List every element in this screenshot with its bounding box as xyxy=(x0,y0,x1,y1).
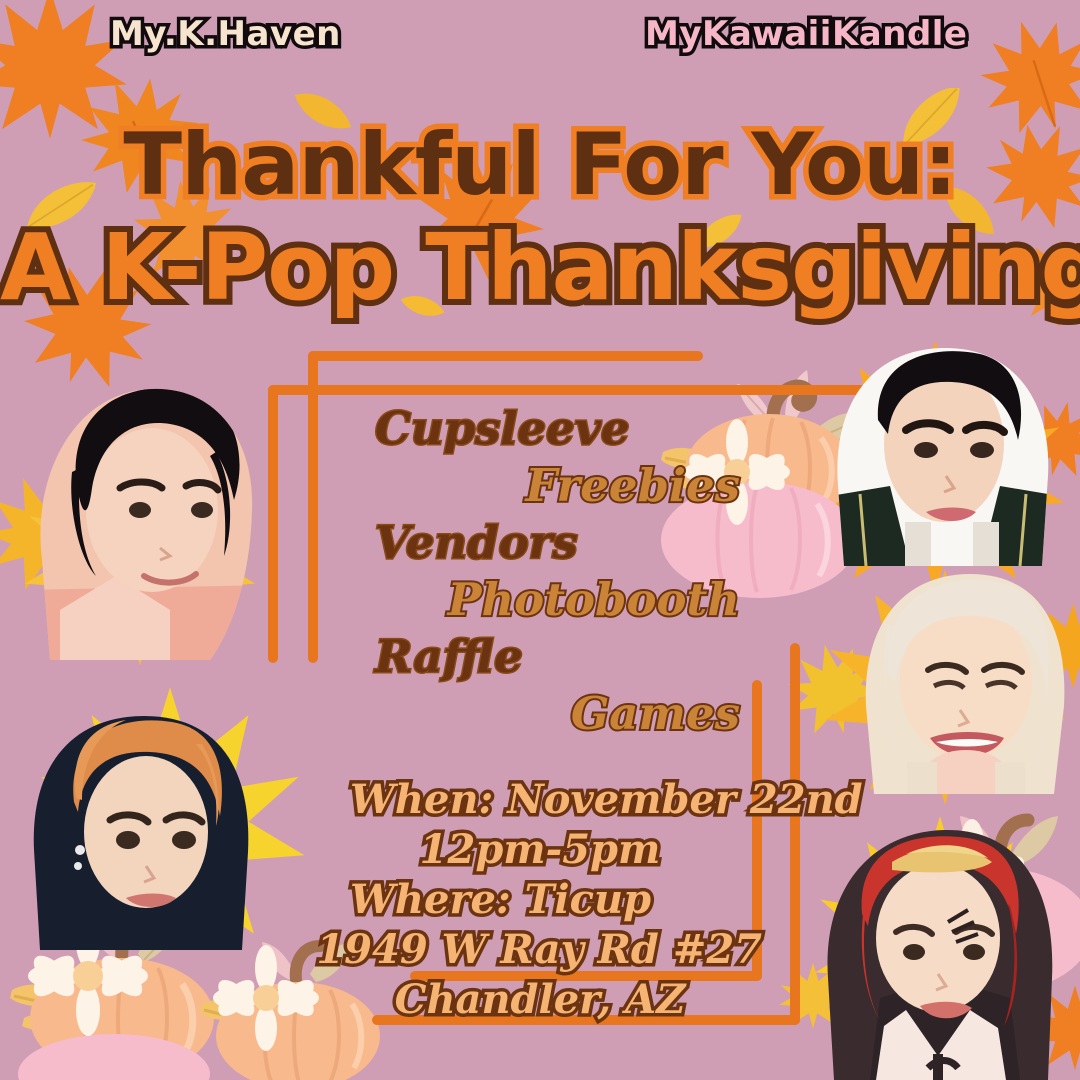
detail-where-venue: Where: Ticup xyxy=(300,875,780,925)
feature-item-games: Games xyxy=(330,685,750,742)
feature-item-raffle: Raffle xyxy=(330,628,750,685)
detail-when-time: 12pm-5pm xyxy=(300,825,780,875)
feature-list: Cupsleeve Freebies Vendors Photobooth Ra… xyxy=(330,400,750,742)
feature-item-photobooth: Photobooth xyxy=(330,571,750,628)
kpop-idol-photo-mid-right xyxy=(858,566,1074,794)
page-title-line-2: A K-Pop Thanksgiving xyxy=(0,216,1080,320)
feature-item-vendors: Vendors xyxy=(330,514,750,571)
brand-handle-left: My.K.Haven xyxy=(110,14,341,54)
detail-where-city: Chandler, AZ xyxy=(300,975,780,1025)
kpop-idol-photo-top-right xyxy=(830,336,1060,566)
detail-when-date: When: November 22nd xyxy=(300,775,780,825)
frame-line-outer-right xyxy=(790,643,800,1025)
kpop-idol-photo-top-left xyxy=(20,360,270,660)
frame-line-inner-top xyxy=(308,351,703,361)
kpop-idol-photo-bottom-left xyxy=(30,700,262,950)
page-title-line-1: Thankful For You: xyxy=(0,116,1080,214)
detail-where-street: 1949 W Ray Rd #27 xyxy=(300,925,780,975)
feature-item-freebies: Freebies xyxy=(330,457,750,514)
brand-handle-right: MyKawaiiKandle xyxy=(645,14,968,54)
feature-item-cupsleeve: Cupsleeve xyxy=(330,400,750,457)
kpop-idol-photo-bottom-right xyxy=(820,818,1070,1080)
maple-leaf-icon xyxy=(118,86,128,96)
frame-line-inner-left xyxy=(308,351,318,663)
event-details: When: November 22nd 12pm-5pm Where: Ticu… xyxy=(300,775,780,1025)
event-poster: My.K.Haven MyKawaiiKandle Thankful For Y… xyxy=(0,0,1080,1080)
